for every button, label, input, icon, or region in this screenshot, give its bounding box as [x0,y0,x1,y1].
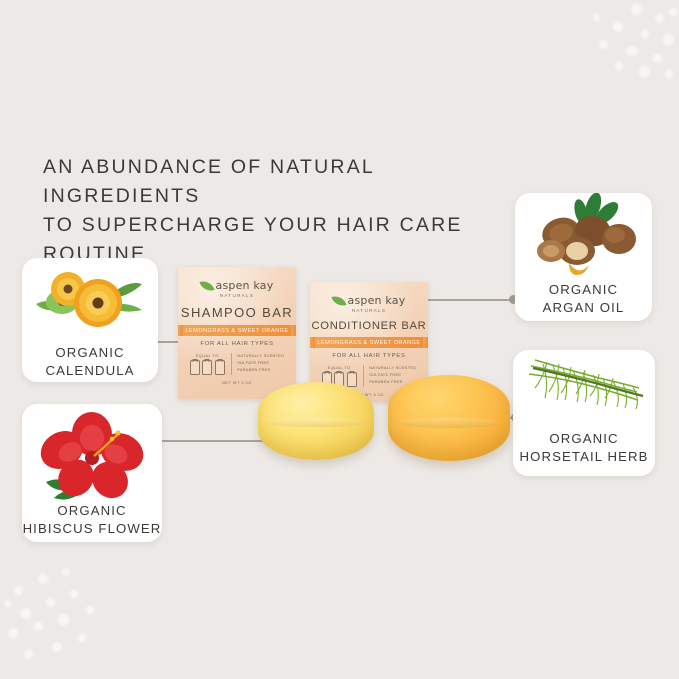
ingredient-card-caption: ORGANIC HORSETAIL HERB [513,430,655,476]
brand-logo: aspen kay [201,279,274,292]
decorative-dots-top-right [569,0,679,110]
argan-nuts-image [515,193,652,281]
bottle-icon [202,360,212,375]
leaf-icon [199,278,214,293]
brand-subtitle: NATURALS [220,293,255,298]
page-title: AN ABUNDANCE OF NATURAL INGREDIENTS TO S… [43,153,513,269]
claim-item: NATURALLY SCENTED [369,365,416,370]
net-weight: NET WT 3 OZ [222,380,252,385]
scent-ribbon: LEMONGRASS & SWEET ORANGE [182,325,292,336]
leaf-icon [331,293,346,308]
connector-line-argan [428,299,514,301]
equal-to-label: EQUAL TO [196,353,219,358]
specs-divider [363,365,364,387]
bottle-icon [347,372,357,387]
claim-item: SULFATE FREE [369,372,416,377]
ingredient-card-calendula[interactable]: ORGANIC CALENDULA [22,258,158,382]
bottle-icon [190,360,200,375]
horsetail-herb-image [513,350,655,430]
brand-subtitle: NATURALS [352,308,387,313]
claim-item: SULFATE FREE [237,360,284,365]
package-title: SHAMPOO BAR [181,305,293,320]
claims-list: NATURALLY SCENTED SULFATE FREE PARABEN F… [237,353,284,372]
decorative-dots-bottom-left [0,564,115,679]
bottle-icon [215,360,225,375]
ingredient-card-caption: ORGANIC CALENDULA [22,344,158,382]
hibiscus-flower-image [22,404,162,502]
infographic-canvas: AN ABUNDANCE OF NATURAL INGREDIENTS TO S… [0,0,679,679]
package-specs: EQUAL TO NATURALLY SCENTED SULFATE FREE … [187,353,286,375]
specs-divider [231,353,232,375]
shampoo-bar-package[interactable]: aspen kay NATURALS SHAMPOO BAR LEMONGRAS… [178,267,296,399]
ingredient-card-hibiscus[interactable]: ORGANIC HIBISCUS FLOWER [22,404,162,542]
scent-ribbon: LEMONGRASS & SWEET ORANGE [314,337,424,348]
equal-to-label: EQUAL TO [328,365,351,370]
hair-type-label: FOR ALL HAIR TYPES [332,353,405,359]
brand-name: aspen kay [216,279,274,292]
bottle-icons [190,360,225,375]
conditioner-soap-bar [388,375,510,461]
ingredient-card-argan[interactable]: ORGANIC ARGAN OIL [515,193,652,321]
ingredient-card-caption: ORGANIC ARGAN OIL [515,281,652,321]
connector-line-hibiscus [157,440,269,442]
hair-type-label: FOR ALL HAIR TYPES [200,341,273,347]
brand-logo: aspen kay [333,294,406,307]
package-title: CONDITIONER BAR [312,320,427,332]
brand-name: aspen kay [348,294,406,307]
ingredient-card-horsetail[interactable]: ORGANIC HORSETAIL HERB [513,350,655,476]
claims-list: NATURALLY SCENTED SULFATE FREE PARABEN F… [369,365,416,384]
shampoo-soap-bar [258,382,374,460]
claim-item: NATURALLY SCENTED [237,353,284,358]
calendula-flower-image [22,258,158,344]
ingredient-card-caption: ORGANIC HIBISCUS FLOWER [22,502,162,542]
claim-item: PARABEN FREE [237,367,284,372]
